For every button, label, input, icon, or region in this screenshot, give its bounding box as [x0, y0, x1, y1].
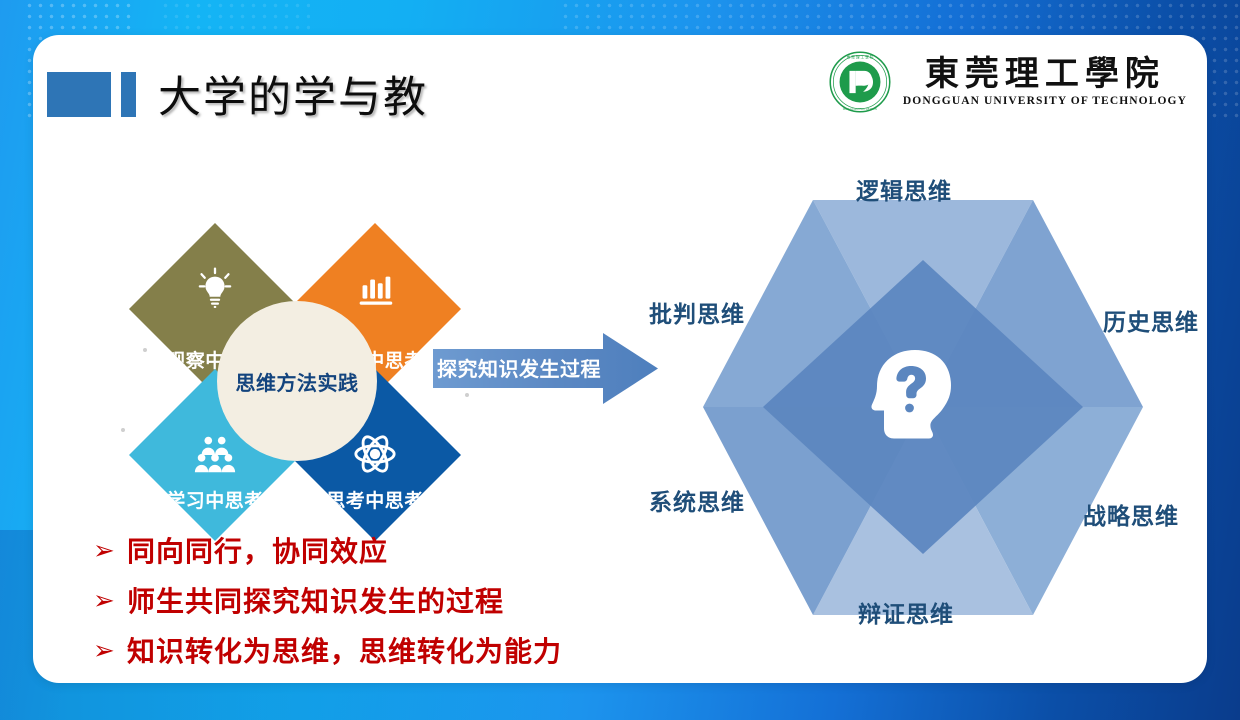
diamond-label: 学习中思考: [129, 486, 301, 513]
bullet-arrow-icon: ➢: [93, 537, 127, 563]
page-title: 大学的学与教: [158, 63, 428, 125]
list-item: ➢ 师生共同探究知识发生的过程: [93, 578, 733, 622]
title-block: 大学的学与教: [47, 63, 428, 125]
title-accent-bar-small: [121, 72, 136, 117]
bar-chart-icon: [352, 267, 398, 313]
decorative-dot: [143, 348, 147, 352]
diamond-center-circle: 思维方法实践: [217, 301, 377, 461]
title-accent-bar-large: [47, 72, 111, 117]
svg-text:東 莞 理 工 學 院: 東 莞 理 工 學 院: [846, 54, 873, 59]
university-emblem-icon: 東 莞 理 工 學 院 DONGGUAN UNIV. OF TECH.: [829, 51, 891, 113]
diamond-center-label: 思维方法实践: [236, 367, 359, 396]
hex-label-strategic: 战略思维: [1083, 497, 1179, 531]
arrow-label: 探究知识发生过程: [437, 353, 601, 382]
bullet-text: 师生共同探究知识发生的过程: [127, 580, 504, 620]
key-points-list: ➢ 同向同行，协同效应 ➢ 师生共同探究知识发生的过程 ➢ 知识转化为思维，思维…: [93, 528, 733, 678]
atom-icon: [352, 431, 398, 477]
lightbulb-icon: [192, 267, 238, 313]
slide-content-card: 大学的学与教 東 莞 理 工 學 院 DONGGUAN UNIV. OF TEC…: [33, 35, 1207, 683]
hex-label-systemic: 系统思维: [649, 483, 745, 517]
hexagon-shape: [703, 200, 1143, 615]
thinking-methods-diamond-diagram: 观察中思考 实践中思考: [129, 223, 469, 541]
svg-text:DONGGUAN UNIV. OF TECH.: DONGGUAN UNIV. OF TECH.: [843, 108, 878, 111]
process-arrow: 探究知识发生过程: [433, 331, 658, 406]
university-name-cn: 東莞理工學院: [903, 57, 1187, 93]
list-item: ➢ 知识转化为思维，思维转化为能力: [93, 628, 733, 672]
list-item: ➢ 同向同行，协同效应: [93, 528, 733, 572]
bullet-arrow-icon: ➢: [93, 587, 127, 613]
hex-label-historical: 历史思维: [1103, 303, 1199, 337]
bullet-arrow-icon: ➢: [93, 637, 127, 663]
decorative-dot: [121, 428, 125, 432]
bullet-text: 知识转化为思维，思维转化为能力: [127, 630, 562, 670]
university-logo: 東 莞 理 工 學 院 DONGGUAN UNIV. OF TECH. 東莞理工…: [829, 51, 1187, 113]
hex-label-critical: 批判思维: [649, 295, 745, 329]
slide-canvas: 大学的学与教 東 莞 理 工 學 院 DONGGUAN UNIV. OF TEC…: [0, 0, 1240, 720]
university-name-en: DONGGUAN UNIVERSITY OF TECHNOLOGY: [903, 95, 1187, 107]
university-logo-text: 東莞理工學院 DONGGUAN UNIVERSITY OF TECHNOLOGY: [903, 57, 1187, 107]
hex-label-logical: 逻辑思维: [856, 172, 952, 206]
bullet-text: 同向同行，协同效应: [127, 530, 388, 570]
people-group-icon: [192, 431, 238, 477]
hex-label-dialectic: 辩证思维: [858, 595, 954, 629]
diamond-label: 思考中思考: [289, 486, 461, 513]
